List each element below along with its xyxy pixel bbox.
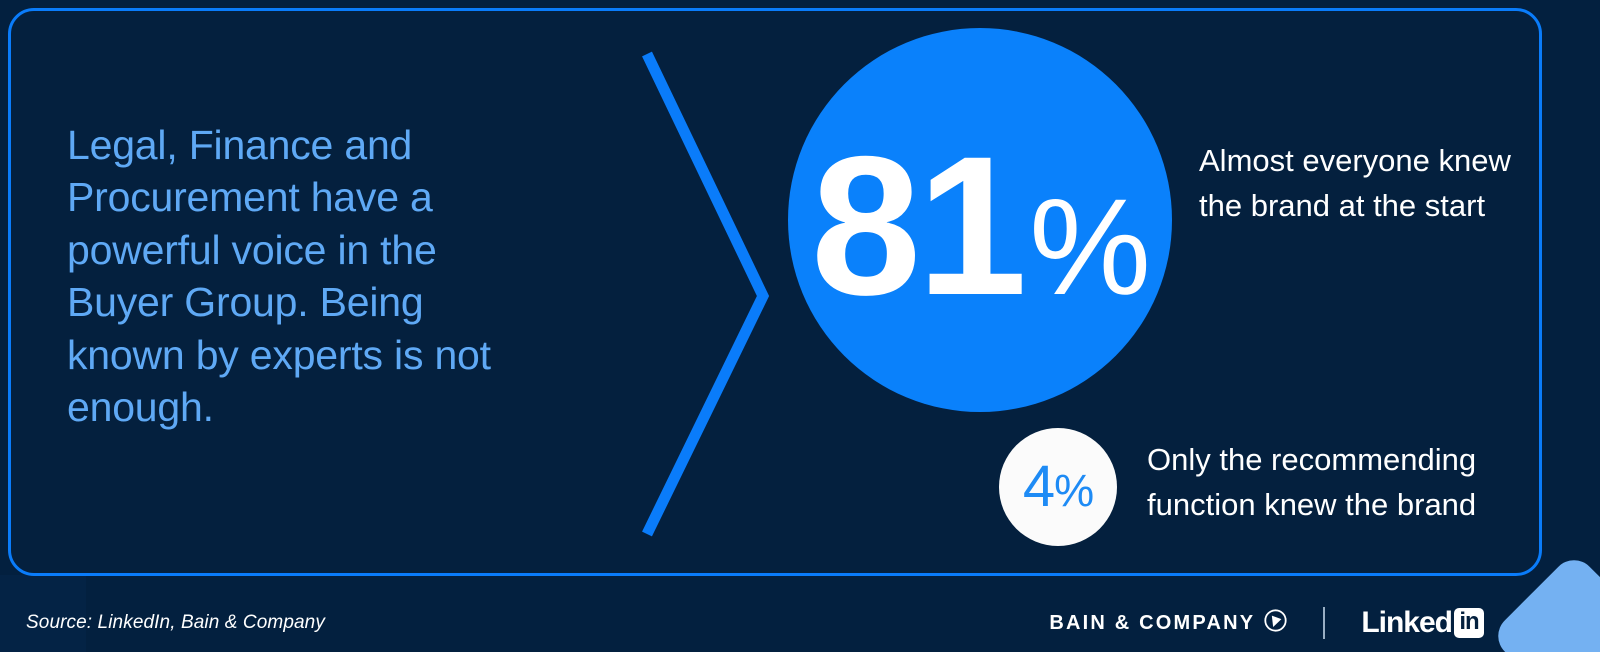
stat-caption-secondary: Only the recommending function knew the … — [1147, 438, 1542, 528]
stat-circle-secondary: 4 % — [999, 428, 1117, 546]
source-note: Source: LinkedIn, Bain & Company — [26, 612, 325, 634]
stat-value-primary: 81 % — [811, 127, 1149, 325]
linkedin-in-badge: in — [1454, 608, 1484, 638]
logo-group: BAIN & COMPANY Linked in — [1049, 606, 1484, 640]
infographic-slide: Legal, Finance and Procurement have a po… — [0, 0, 1600, 652]
stat-unit-secondary: % — [1054, 468, 1093, 513]
statement-text: Legal, Finance and Procurement have a po… — [67, 119, 537, 434]
bain-circle-logo-icon — [1264, 609, 1287, 637]
chevron-right-icon — [621, 31, 801, 561]
bain-logo: BAIN & COMPANY — [1049, 609, 1287, 637]
stat-value-secondary: 4 % — [1023, 458, 1093, 516]
linkedin-wordmark: Linked — [1361, 606, 1452, 640]
linkedin-logo: Linked in — [1361, 606, 1484, 640]
stat-circle-primary: 81 % — [788, 28, 1172, 412]
stat-number-primary: 81 — [811, 127, 1023, 325]
logo-divider — [1323, 607, 1325, 639]
bordered-content-card: Legal, Finance and Procurement have a po… — [8, 8, 1542, 576]
stat-unit-primary: % — [1029, 179, 1149, 316]
stat-caption-primary: Almost everyone knew the brand at the st… — [1199, 139, 1519, 229]
footer: Source: LinkedIn, Bain & Company BAIN & … — [0, 576, 1600, 652]
bain-wordmark: BAIN & COMPANY — [1049, 612, 1255, 635]
stat-number-secondary: 4 — [1023, 458, 1054, 516]
